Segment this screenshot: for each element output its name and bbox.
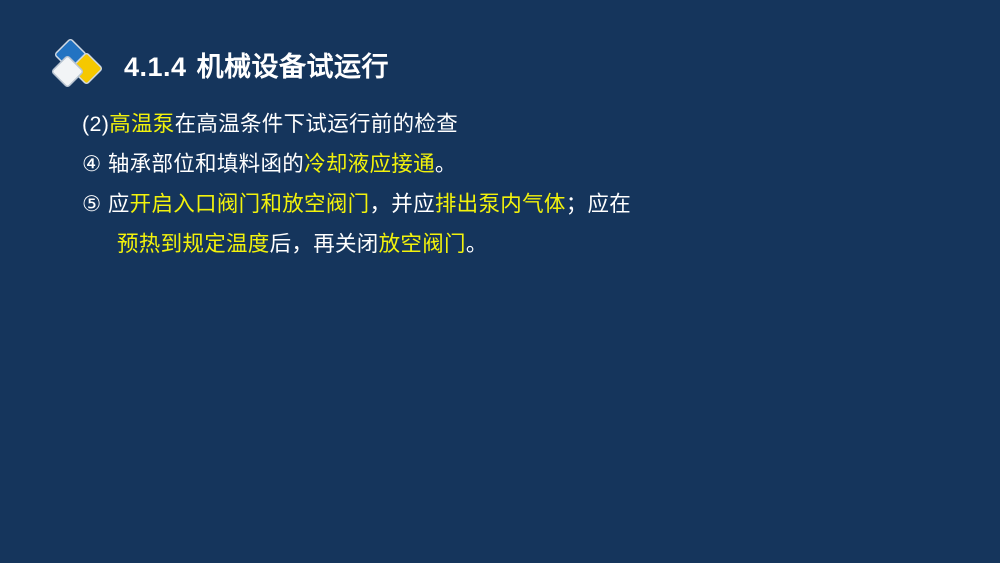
body-text: 在高温条件下试运行前的检查 — [175, 112, 458, 136]
page-title: 4.1.4机械设备试运行 — [124, 45, 389, 84]
highlighted-text: 高温泵 — [109, 112, 174, 136]
highlighted-text: 排出泵内气体 — [435, 192, 566, 216]
body-text: 。 — [435, 152, 457, 176]
highlighted-text: 预热到规定温度 — [117, 232, 270, 256]
page-title-label: 机械设备试运行 — [197, 52, 390, 82]
body-text: ④ 轴承部位和填料函的 — [82, 152, 304, 176]
body-text: ⑤ 应 — [82, 192, 130, 216]
three-diamond-logo-icon — [52, 39, 104, 89]
body-text: 。 — [466, 232, 488, 256]
slide-header: 4.1.4机械设备试运行 — [52, 36, 389, 92]
body-line: ⑤ 应开启入口阀门和放空阀门，并应排出泵内气体；应在 — [82, 184, 942, 224]
body-text: ，并应 — [369, 192, 434, 216]
page-title-number: 4.1.4 — [124, 52, 187, 82]
body-text: ；应在 — [566, 192, 631, 216]
slide-body: (2)高温泵在高温条件下试运行前的检查④ 轴承部位和填料函的冷却液应接通。⑤ 应… — [82, 104, 942, 264]
body-line: 预热到规定温度后，再关闭放空阀门。 — [82, 224, 942, 264]
highlighted-text: 放空阀门 — [379, 232, 466, 256]
highlighted-text: 冷却液应接通 — [304, 152, 435, 176]
body-text: 后，再关闭 — [270, 232, 379, 256]
slide-canvas: 4.1.4机械设备试运行 (2)高温泵在高温条件下试运行前的检查④ 轴承部位和填… — [0, 0, 1000, 563]
body-text: (2) — [82, 112, 109, 136]
highlighted-text: 开启入口阀门和放空阀门 — [130, 192, 370, 216]
body-line: ④ 轴承部位和填料函的冷却液应接通。 — [82, 144, 942, 184]
body-line: (2)高温泵在高温条件下试运行前的检查 — [82, 104, 942, 144]
